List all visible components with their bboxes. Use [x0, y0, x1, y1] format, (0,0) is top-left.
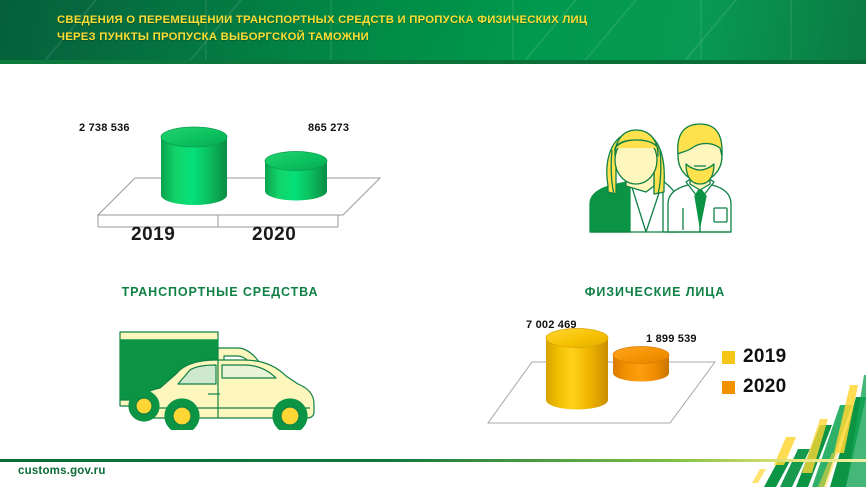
bar-2020-vehicles — [265, 152, 327, 201]
two-people-icon — [568, 108, 738, 248]
people-illustration — [568, 108, 738, 248]
value-label-2020-persons: 1 899 539 — [646, 333, 697, 345]
angular-chevrons-icon — [746, 357, 866, 487]
truck-and-car-icon — [112, 320, 327, 430]
value-label-2019-persons: 7 002 469 — [526, 319, 577, 331]
value-label-2019-vehicles: 2 738 536 — [79, 122, 130, 134]
chart-persons: 7 002 469 1 899 539 — [470, 305, 760, 435]
chart-vehicles: 2 738 536 865 273 2019 2020 — [60, 105, 400, 255]
legend-swatch-2020-icon — [722, 381, 735, 394]
bar-2019-persons — [546, 329, 608, 410]
chart-persons-svg — [470, 305, 760, 435]
page-header: СВЕДЕНИЯ О ПЕРЕМЕЩЕНИИ ТРАНСПОРТНЫХ СРЕД… — [0, 0, 866, 60]
axis-label-2019-vehicles: 2019 — [131, 224, 175, 246]
section-label-persons: ФИЗИЧЕСКИЕ ЛИЦА — [530, 285, 780, 299]
legend-swatch-2019-icon — [722, 351, 735, 364]
footer-url[interactable]: customs.gov.ru — [18, 465, 106, 477]
page-title: СВЕДЕНИЯ О ПЕРЕМЕЩЕНИИ ТРАНСПОРТНЫХ СРЕД… — [57, 12, 757, 46]
bar-2020-persons — [613, 347, 669, 382]
value-label-2020-vehicles: 865 273 — [308, 122, 349, 134]
decoration-chevrons — [746, 357, 866, 487]
vehicle-illustration — [112, 320, 327, 430]
bar-2019-vehicles — [161, 127, 227, 205]
footer-divider — [0, 459, 866, 462]
header-stripe — [790, 0, 792, 60]
section-label-vehicles: ТРАНСПОРТНЫЕ СРЕДСТВА — [70, 285, 370, 299]
chart-base-plane — [98, 178, 380, 215]
header-underline — [0, 60, 866, 64]
axis-label-2020-vehicles: 2020 — [252, 224, 296, 246]
